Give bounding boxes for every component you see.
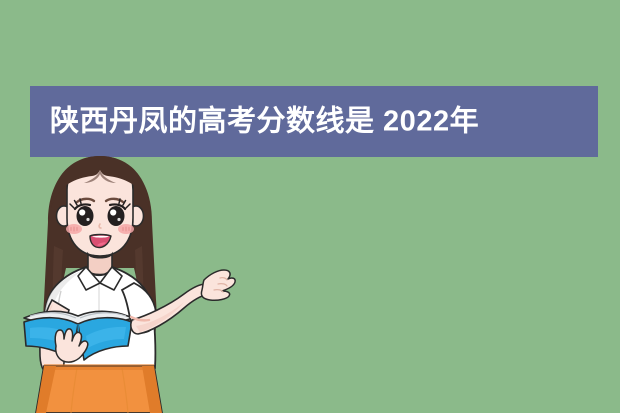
skirt-shape (36, 364, 162, 413)
thumbnail-canvas: 陕西丹凤的高考分数线是 2022年 (0, 0, 620, 413)
schoolgirl-illustration (22, 150, 242, 413)
title-banner: 陕西丹凤的高考分数线是 2022年 (30, 86, 598, 157)
page-title: 陕西丹凤的高考分数线是 2022年 (50, 107, 479, 136)
